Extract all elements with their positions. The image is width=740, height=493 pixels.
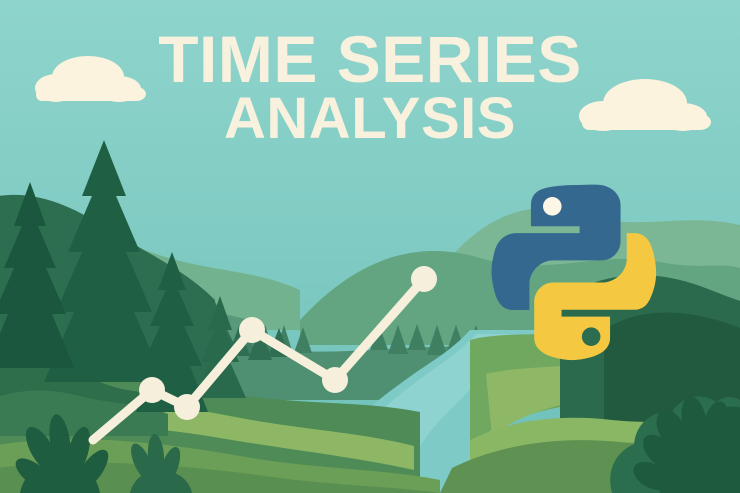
python-logo-blue-eye	[543, 197, 562, 216]
time-series-banner: TIME SERIES ANALYSIS	[0, 0, 740, 493]
chart-point-p1	[139, 377, 165, 403]
chart-point-p2	[174, 394, 200, 420]
chart-point-p3	[239, 317, 265, 343]
landscape-illustration	[0, 0, 740, 493]
python-logo-yellow-eye	[582, 327, 601, 346]
chart-point-p4	[322, 367, 348, 393]
chart-point-p5	[411, 266, 437, 292]
